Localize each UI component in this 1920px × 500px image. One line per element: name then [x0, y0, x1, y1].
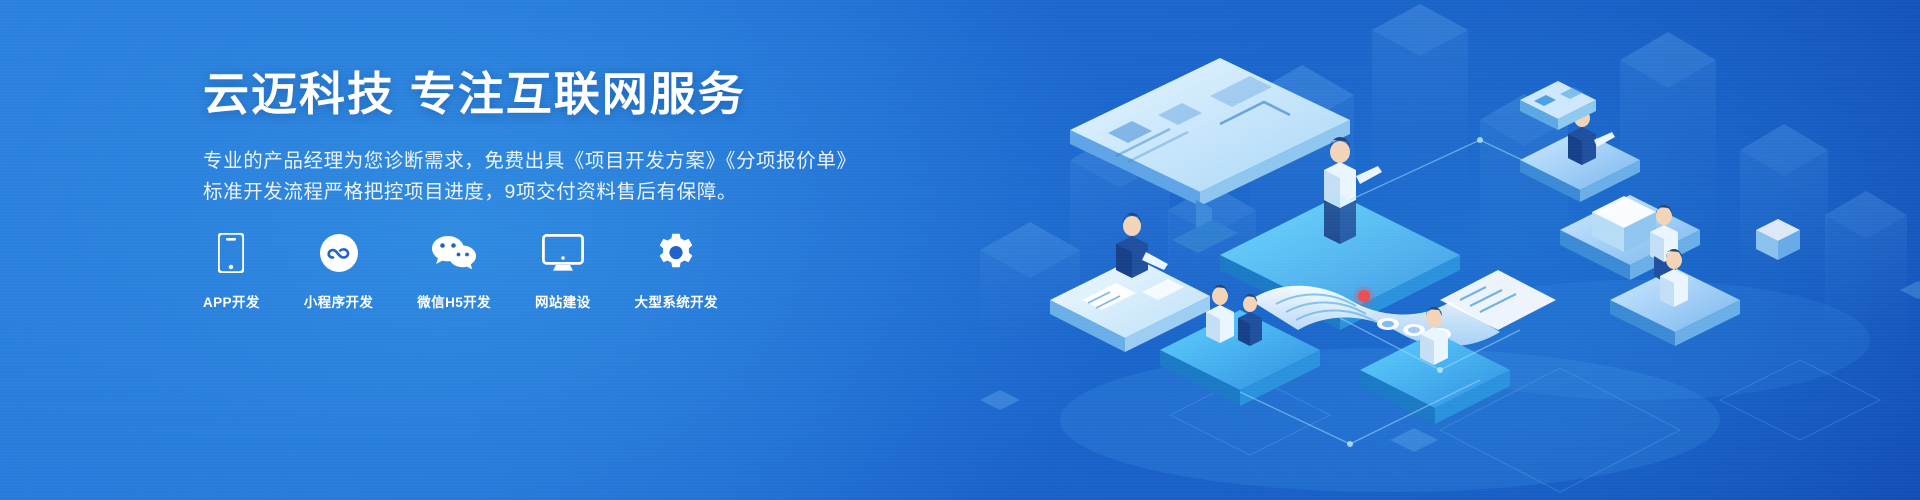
subtitle-line-1: 专业的产品经理为您诊断需求，免费出具《项目开发方案》《分项报价单》 — [203, 150, 857, 172]
floating-cube — [1756, 219, 1800, 260]
mini-program-icon — [319, 232, 359, 274]
service-item-website[interactable]: 网站建设 — [535, 232, 591, 311]
service-item-app[interactable]: APP开发 — [203, 232, 260, 311]
service-item-mini-program[interactable]: 小程序开发 — [304, 232, 374, 311]
wechat-icon — [431, 232, 477, 274]
subtitle-line-2: 标准开发流程严格把控项目进度，9项交付资料售后有保障。 — [203, 177, 857, 208]
service-label: APP开发 — [203, 291, 260, 311]
service-item-large-system[interactable]: 大型系统开发 — [635, 232, 718, 311]
service-label: 网站建设 — [535, 291, 591, 311]
page-title: 云迈科技 专注互联网服务 — [203, 66, 857, 124]
service-label: 大型系统开发 — [635, 291, 718, 311]
promotional-banner: 云迈科技 专注互联网服务 专业的产品经理为您诊断需求，免费出具《项目开发方案》《… — [0, 0, 1920, 500]
service-list: APP开发 小程序开发 微信 — [203, 232, 718, 311]
monitor-icon — [542, 232, 584, 274]
banner-copy: 云迈科技 专注互联网服务 专业的产品经理为您诊断需求，免费出具《项目开发方案》《… — [203, 66, 857, 208]
banner-subtitle: 专业的产品经理为您诊断需求，免费出具《项目开发方案》《分项报价单》 标准开发流程… — [203, 146, 857, 208]
service-item-wechat-h5[interactable]: 微信H5开发 — [417, 232, 491, 311]
mobile-phone-icon — [218, 232, 244, 274]
gear-icon — [656, 232, 696, 274]
service-label: 小程序开发 — [304, 291, 374, 311]
service-label: 微信H5开发 — [417, 291, 491, 311]
isometric-illustration — [920, 0, 1920, 500]
